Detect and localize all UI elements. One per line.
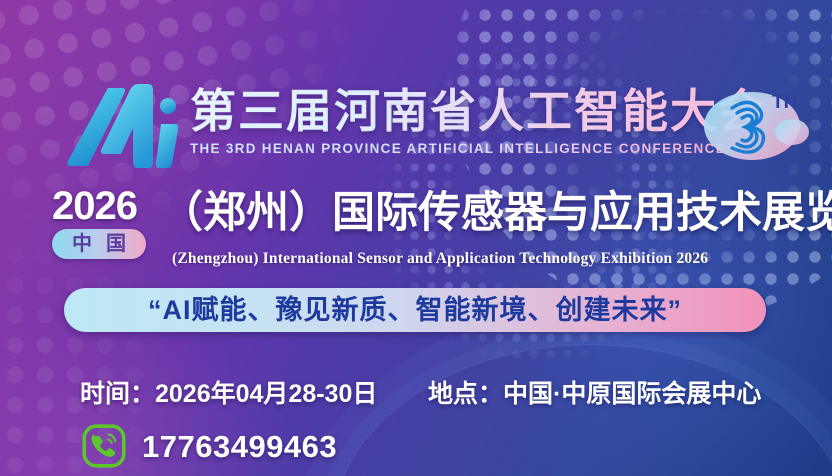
exhibition-title-cn: （郑州）国际传感器与应用技术展览会 (160, 186, 832, 237)
event-date: 时间：2026年04月28-30日 (80, 374, 377, 410)
country-pill-char-2: 国 (106, 234, 126, 254)
conference-title-cn: 第三届河南省人工智能大会 (190, 86, 766, 136)
edition-badge-3th: TH (700, 82, 812, 170)
arc-rings-decoration (330, 344, 832, 476)
country-pill: 中 国 (52, 229, 146, 259)
ai-monogram-logo (64, 84, 182, 170)
svg-text:TH: TH (772, 92, 797, 113)
slogan-text: “AI赋能、豫见新质、智能新境、创建未来” (148, 297, 682, 324)
slogan-banner: “AI赋能、豫见新质、智能新境、创建未来” (64, 288, 766, 332)
event-place: 地点：中国·中原国际会展中心 (428, 374, 761, 410)
year-block: 2026 中 国 (52, 186, 152, 259)
conference-title-block: 第三届河南省人工智能大会 THE 3RD HENAN PROVINCE ARTI… (190, 84, 766, 156)
exhibition-title-en: (Zhengzhou) International Sensor and App… (172, 250, 708, 268)
exhibition-year: 2026 (52, 186, 152, 226)
conference-banner: 第三届河南省人工智能大会 THE 3RD HENAN PROVINCE ARTI… (0, 0, 832, 476)
conference-title-row: 第三届河南省人工智能大会 THE 3RD HENAN PROVINCE ARTI… (64, 84, 766, 170)
exhibition-title-row: 2026 中 国 （郑州）国际传感器与应用技术展览会 (52, 186, 832, 259)
country-pill-char-1: 中 (72, 234, 92, 254)
phone-call-icon (82, 424, 126, 468)
phone-number: 17763499463 (142, 431, 337, 462)
date-info: 时间：2026年04月28-30日 (80, 374, 377, 410)
phone-info: 17763499463 (82, 424, 337, 468)
conference-title-en: THE 3RD HENAN PROVINCE ARTIFICIAL INTELL… (190, 141, 766, 156)
